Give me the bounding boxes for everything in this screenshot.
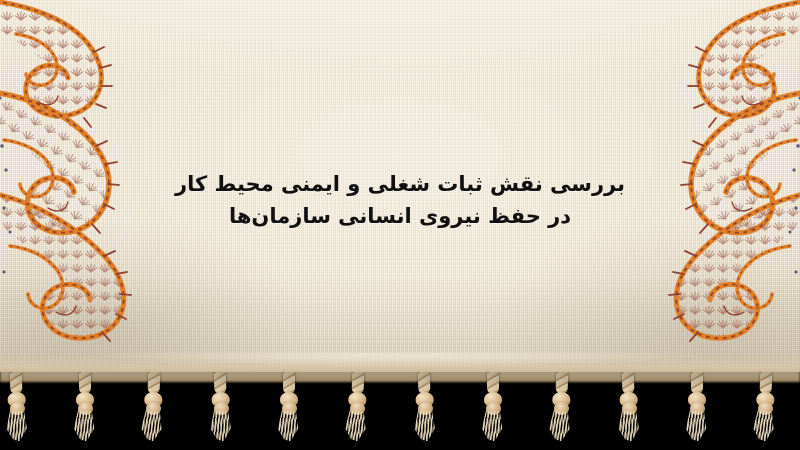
tassel [207, 372, 236, 446]
tassel [72, 372, 98, 446]
tassel [615, 372, 644, 446]
tassel [684, 372, 710, 446]
tassel-cord [760, 372, 773, 394]
tassel-skirt [683, 410, 708, 442]
tassel-cord [556, 372, 569, 394]
tassel [3, 372, 32, 446]
fringe-header-cord [0, 372, 800, 382]
textile-background [0, 0, 800, 382]
tassel-skirt [138, 409, 164, 442]
tassel-skirt [616, 410, 640, 441]
tassel-cord [691, 372, 703, 394]
tassel [411, 372, 440, 446]
tassel [751, 372, 780, 446]
tassel-cord [214, 372, 227, 394]
tassel-fringe [0, 372, 800, 450]
tassel-skirt [546, 409, 572, 442]
tassel [547, 372, 576, 446]
tassel-cord [10, 372, 23, 394]
tassel-skirt [479, 410, 504, 442]
title-slide: بررسی نقش ثبات شغلی و ایمنی محیط کار در … [0, 0, 800, 450]
tassel-skirt [4, 410, 28, 441]
tassel-skirt [342, 409, 368, 442]
tassel [343, 372, 372, 446]
tassel-cord [418, 372, 431, 394]
tassel-skirt [208, 410, 232, 441]
tassel [276, 372, 302, 446]
tassel-skirt [275, 410, 300, 442]
tassel-skirt [412, 410, 436, 441]
tassel-cord [148, 372, 161, 394]
tassel-cord [283, 372, 295, 394]
tassel-skirt [750, 409, 776, 442]
tassel-cord [622, 372, 635, 394]
tassel [480, 372, 506, 446]
tassel-cord [352, 372, 365, 394]
tassel [139, 372, 168, 446]
tassel-cord [487, 372, 499, 394]
tassel-cord [79, 372, 91, 394]
tassel-skirt [71, 410, 96, 442]
